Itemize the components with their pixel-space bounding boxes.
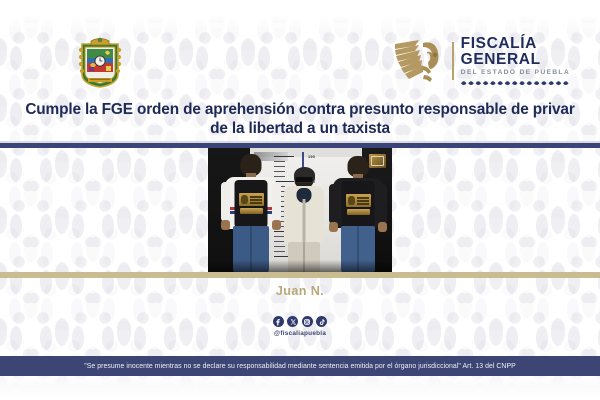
scale-label: 190 [308,154,315,159]
logo-line-general: GENERAL [461,52,570,68]
legal-disclaimer-text: "Se presume inocente mientras no se decl… [84,363,516,370]
tactical-vest [235,180,268,228]
logo-divider [452,42,454,80]
officer-right [330,156,386,272]
officer-arm-left [329,184,338,224]
tiktok-icon[interactable] [316,316,327,327]
instagram-icon[interactable] [302,316,313,327]
detainee [282,168,326,272]
bottom-fade-overlay [0,372,600,400]
social-icons-row [273,316,328,327]
officer-arm-right [272,182,281,222]
logo-wordmark: FISCALÍA GENERAL DEL ESTADO DE PUEBLA [461,36,570,86]
fiscalia-vest-patch-icon [239,193,264,206]
eagle-warrior-icon [393,38,445,84]
top-fade-overlay [0,0,600,28]
photo-floor-shadow [208,260,392,272]
vest-label-strip [240,208,263,214]
facebook-icon[interactable] [273,316,284,327]
tactical-vest [342,181,375,228]
header: FISCALÍA GENERAL DEL ESTADO DE PUEBLA [0,26,600,94]
fiscalia-vest-patch-icon [346,194,371,207]
puebla-coat-of-arms [78,34,122,88]
legal-disclaimer-bar: "Se presume inocente mientras no se decl… [0,356,600,376]
x-twitter-icon[interactable] [287,316,298,327]
social-media-block: @fiscaliapuebla [0,316,600,337]
vest-label-strip [347,209,370,215]
logo-line-fiscalia: FISCALÍA [461,36,570,52]
blurred-face-bar [296,177,313,182]
officer-left [222,154,280,272]
detainee-photo: 190 180 170 160 150 [208,148,392,272]
fiscalia-general-logo: FISCALÍA GENERAL DEL ESTADO DE PUEBLA [393,38,570,84]
officer-arm-right [378,184,387,224]
social-handle[interactable]: @fiscaliapuebla [274,330,326,337]
officer-arm-left [221,182,230,222]
press-release-poster: FISCALÍA GENERAL DEL ESTADO DE PUEBLA Cu… [0,0,600,400]
gold-divider-band [0,272,600,278]
headline: Cumple la FGE orden de aprehensión contr… [24,100,576,139]
detainee-name: Juan N. [0,284,600,298]
detainee-jacket [284,186,324,244]
logo-line-estado: DEL ESTADO DE PUEBLA [461,70,570,77]
logo-ornament [461,79,570,86]
